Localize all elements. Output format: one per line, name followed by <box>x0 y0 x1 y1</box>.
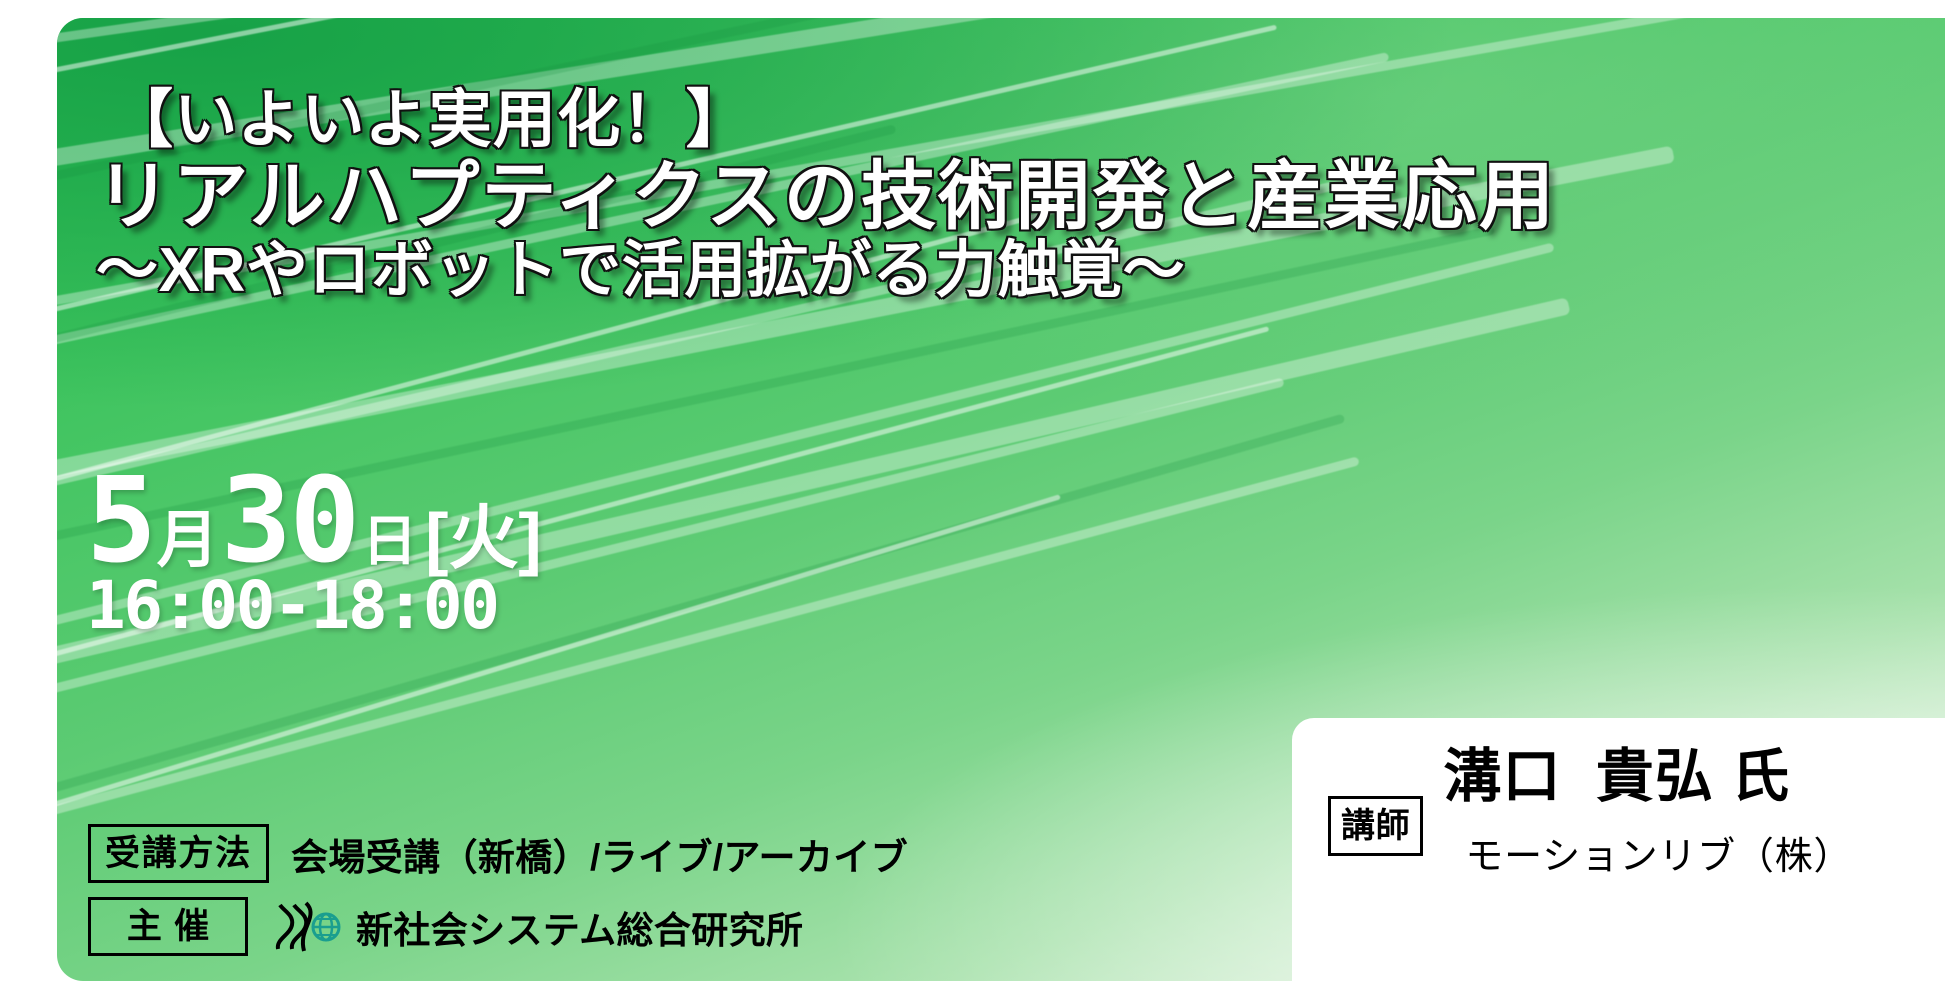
organizer-group: 新社会システム総合研究所 <box>270 899 803 955</box>
attendance-method-value: 会場受講（新橋）/ライブ/アーカイブ <box>291 827 908 881</box>
info-row-organizer: 主催 新社会システム総合研究所 <box>88 897 908 956</box>
time-range: 16:00-18:00 <box>86 567 542 644</box>
attendance-method-tag: 受講方法 <box>88 824 269 883</box>
title-line-1: 【いよいよ実用化！】 <box>110 88 1656 152</box>
organizer-name: 新社会システム総合研究所 <box>356 900 803 954</box>
day-number: 30 <box>221 466 358 575</box>
seminar-poster: 【いよいよ実用化！】 リアルハプティクスの技術開発と産業応用 ～XRやロボットで… <box>0 0 1945 981</box>
speaker-tag: 講師 <box>1328 796 1423 856</box>
day-unit: 日 <box>358 516 425 575</box>
organizer-tag: 主催 <box>88 897 248 956</box>
title-line-2: リアルハプティクスの技術開発と産業応用 <box>96 158 1656 235</box>
date-line: 5 月 30 日 [火] <box>86 466 542 575</box>
month-unit: 月 <box>155 512 221 575</box>
day-of-week: [火] <box>425 506 542 574</box>
speaker-name-family: 溝口 <box>1443 744 1561 809</box>
title-block: 【いよいよ実用化！】 リアルハプティクスの技術開発と産業応用 ～XRやロボットで… <box>96 88 1656 302</box>
speaker-organization: モーションリブ（株） <box>1465 825 1852 880</box>
title-line-3-suffix: やロボットで活用拡がる力触覚～ <box>246 236 1185 305</box>
title-line-3-prefix: ～ <box>96 236 159 305</box>
speaker-name-given: 貴弘 氏 <box>1596 744 1791 809</box>
speaker-text-group: 溝口貴弘 氏 モーションリブ（株） <box>1443 744 1852 880</box>
month-number: 5 <box>86 466 155 575</box>
speaker-panel: 講師 溝口貴弘 氏 モーションリブ（株） <box>1292 718 1945 981</box>
speaker-name: 溝口貴弘 氏 <box>1443 744 1852 811</box>
title-line-3-en: XR <box>159 236 246 305</box>
info-row-attendance: 受講方法 会場受講（新橋）/ライブ/アーカイブ <box>88 824 908 883</box>
info-block: 受講方法 会場受講（新橋）/ライブ/アーカイブ 主催 新社会システム総合研究所 <box>88 824 908 970</box>
ssk-globe-logo-icon <box>270 899 348 955</box>
title-line-3: ～XRやロボットで活用拡がる力触覚～ <box>96 239 1656 302</box>
date-block: 5 月 30 日 [火] 16:00-18:00 <box>86 466 542 644</box>
